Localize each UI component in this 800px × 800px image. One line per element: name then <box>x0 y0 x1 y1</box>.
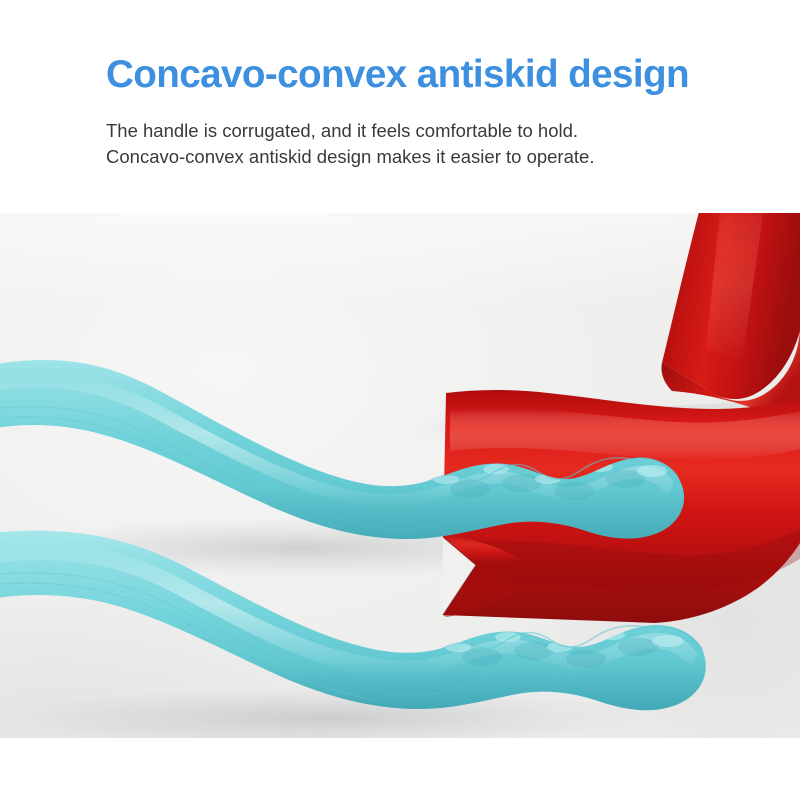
red-ribbon <box>443 213 800 623</box>
page-title: Concavo-convex antiskid design <box>106 53 720 97</box>
header-section: Concavo-convex antiskid design The handl… <box>0 0 800 213</box>
subtitle-line-1: The handle is corrugated, and it feels c… <box>106 118 746 144</box>
product-feature-banner: Concavo-convex antiskid design The handl… <box>0 0 800 800</box>
product-photo <box>0 213 800 738</box>
product-photo-illustration <box>0 213 800 738</box>
subtitle-block: The handle is corrugated, and it feels c… <box>106 118 746 170</box>
footer-spacer <box>0 738 800 800</box>
subtitle-line-2: Concavo-convex antiskid design makes it … <box>106 144 746 170</box>
